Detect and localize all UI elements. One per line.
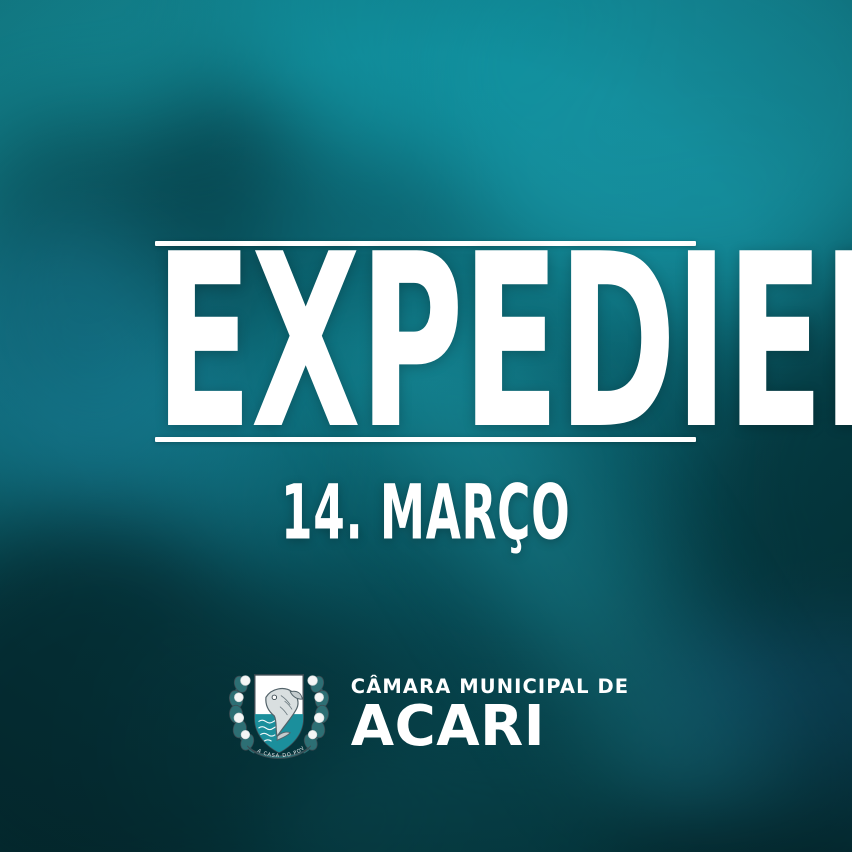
shield-icon bbox=[251, 675, 309, 757]
cotton-branch-left-icon bbox=[227, 674, 256, 752]
coat-of-arms-crest: A CASA DO POVO bbox=[223, 660, 335, 772]
cotton-branch-right-icon bbox=[302, 674, 331, 752]
event-date: 14. MARÇO bbox=[0, 476, 852, 548]
poster-canvas: EXPEDIENTE 14. MARÇO bbox=[0, 0, 852, 852]
logo-line-main: ACARI bbox=[351, 699, 629, 755]
title-block: EXPEDIENTE bbox=[155, 241, 696, 442]
event-date-text: 14. MARÇO bbox=[281, 474, 570, 550]
page-title: EXPEDIENTE bbox=[155, 235, 555, 449]
poster-content: EXPEDIENTE 14. MARÇO bbox=[0, 0, 852, 852]
logo-lockup: A CASA DO POVO CÂMARA MUNICIPAL DE ACARI bbox=[0, 660, 852, 772]
logo-wordmark: CÂMARA MUNICIPAL DE ACARI bbox=[351, 677, 629, 755]
